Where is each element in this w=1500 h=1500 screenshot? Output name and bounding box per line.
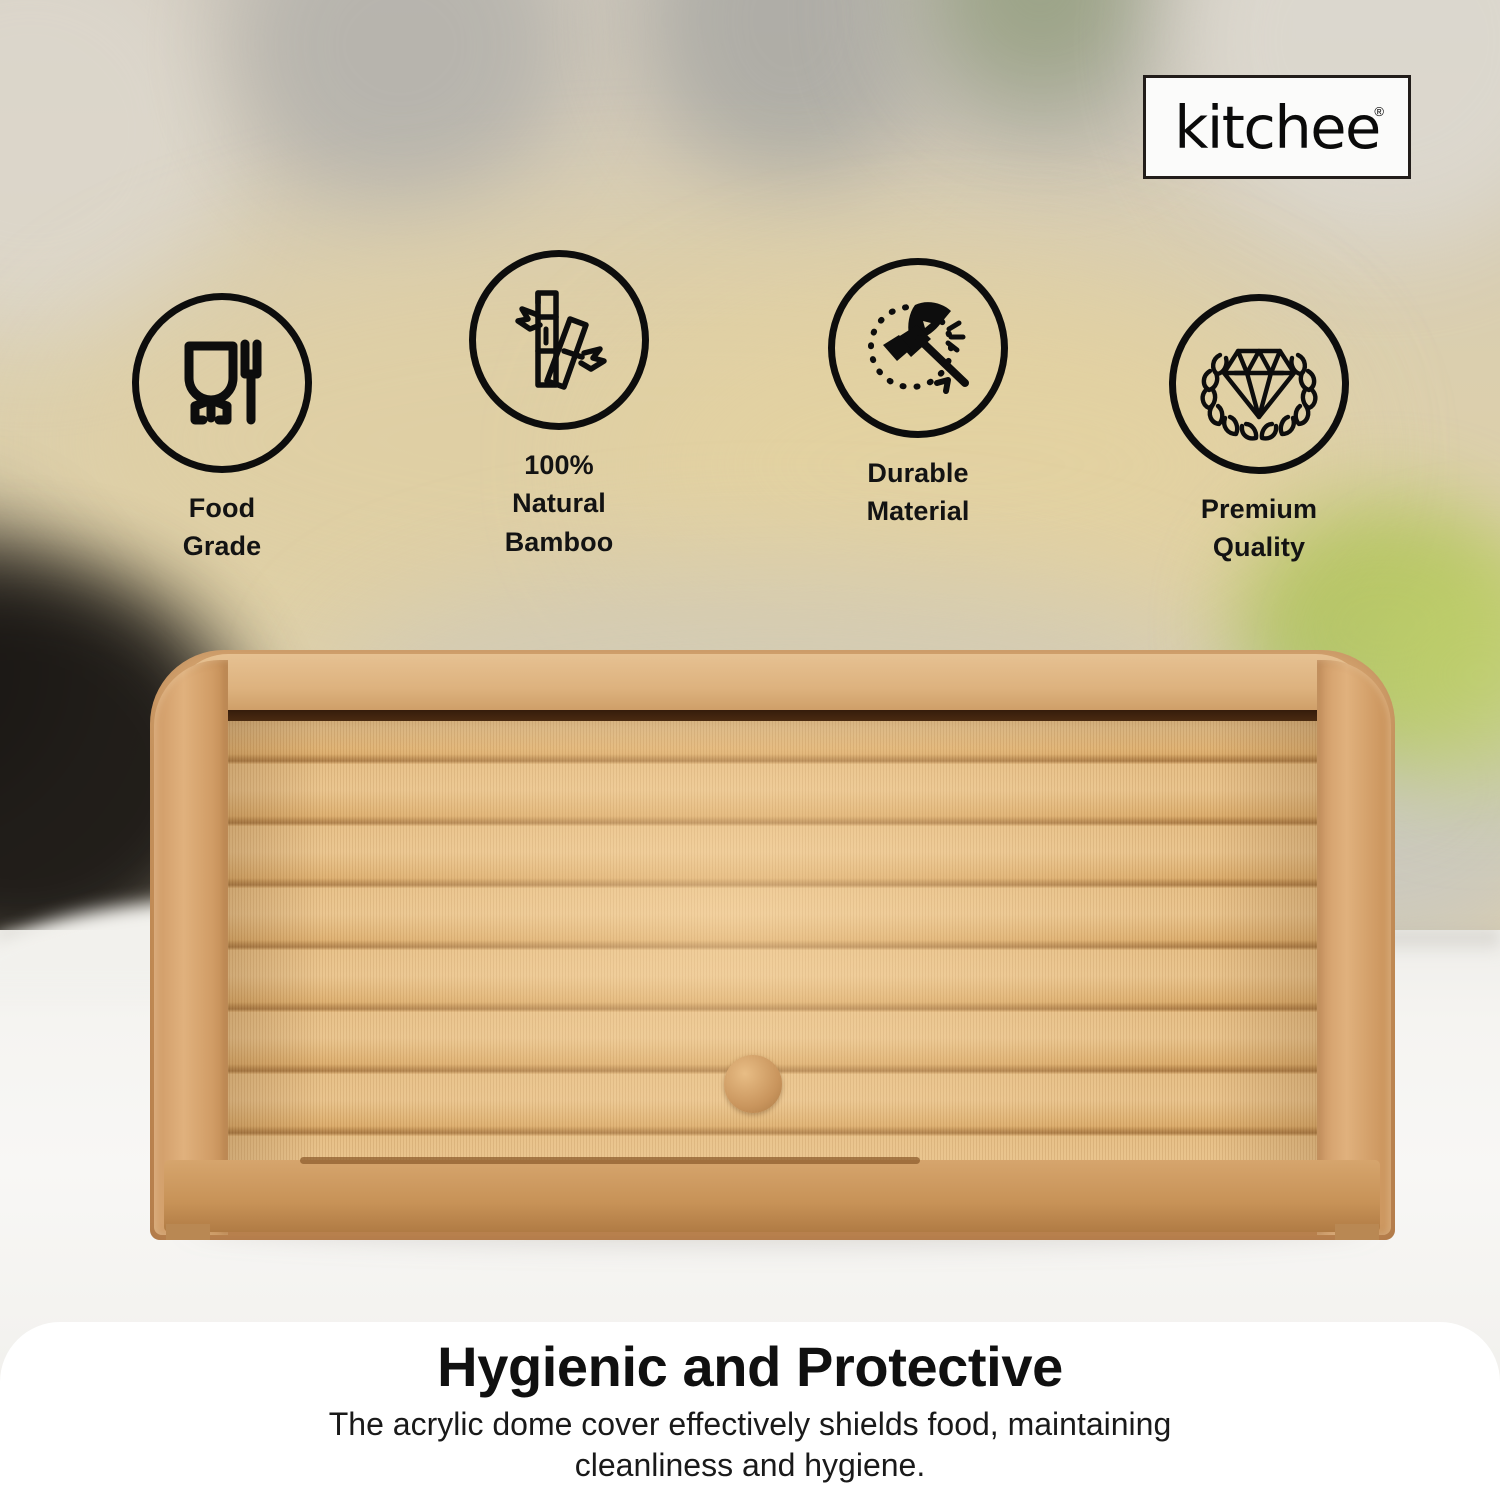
badge-premium-quality-label: Premium Quality bbox=[1201, 490, 1317, 567]
diamond-laurel-icon bbox=[1194, 321, 1324, 447]
bread-box-foot-right bbox=[1335, 1224, 1379, 1240]
bread-box-knob bbox=[724, 1055, 782, 1113]
bread-box-base-seam bbox=[300, 1157, 920, 1164]
badge-natural-bamboo: 100% Natural Bamboo bbox=[444, 250, 674, 561]
badge-natural-bamboo-circle bbox=[469, 250, 649, 430]
bread-box-left-side-panel bbox=[154, 660, 228, 1235]
bamboo-stalks-icon bbox=[498, 279, 620, 401]
badge-durable-material-circle bbox=[828, 258, 1008, 438]
bread-box-foot-left bbox=[166, 1224, 210, 1240]
caption-subtitle: The acrylic dome cover effectively shiel… bbox=[0, 1404, 1500, 1486]
slat-lighting-overlay bbox=[196, 702, 1349, 1220]
badge-durable-material: Durable Material bbox=[803, 258, 1033, 531]
badge-premium-quality-circle bbox=[1169, 294, 1349, 474]
badge-food-grade: Food Grade bbox=[107, 293, 337, 566]
product-image-bamboo-bread-box bbox=[150, 650, 1395, 1250]
badge-natural-bamboo-label: 100% Natural Bamboo bbox=[505, 446, 614, 561]
caption-title: Hygienic and Protective bbox=[0, 1336, 1500, 1398]
bread-box-base-rail bbox=[164, 1160, 1380, 1232]
badge-food-grade-label: Food Grade bbox=[183, 489, 262, 566]
brand-logo-text: kitchee bbox=[1174, 98, 1380, 157]
registered-trademark-icon: ® bbox=[1374, 104, 1384, 119]
bread-box-shell bbox=[150, 650, 1395, 1240]
bread-box-lid-rail bbox=[172, 654, 1372, 710]
bread-box-rolltop-slats bbox=[196, 702, 1349, 1220]
glass-and-fork-icon bbox=[163, 324, 281, 442]
caption-panel: Hygienic and Protective The acrylic dome… bbox=[0, 1322, 1500, 1500]
product-feature-image: kitchee ® Food Grade bbox=[0, 0, 1500, 1500]
bread-box-right-side-panel bbox=[1317, 660, 1391, 1235]
hammer-strike-icon bbox=[853, 283, 983, 413]
badge-premium-quality: Premium Quality bbox=[1144, 294, 1374, 567]
brand-logo: kitchee ® bbox=[1143, 75, 1411, 179]
badge-durable-material-label: Durable Material bbox=[867, 454, 970, 531]
badge-food-grade-circle bbox=[132, 293, 312, 473]
